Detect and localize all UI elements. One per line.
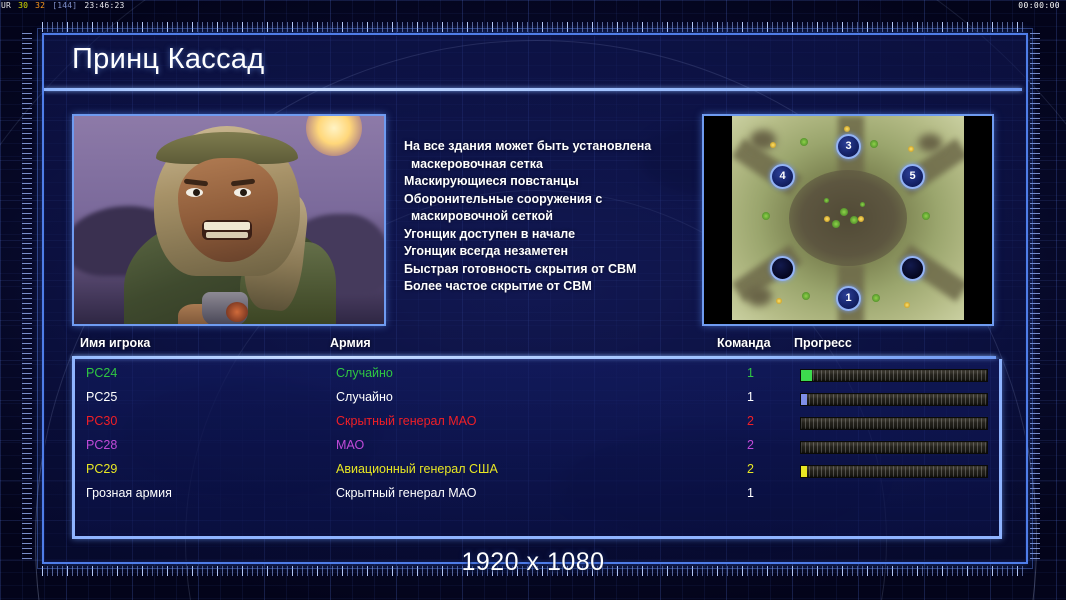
column-header-team: Команда [717, 336, 771, 350]
map-start-position[interactable]: 4 [770, 164, 795, 189]
cell-army: Авиационный генерал США [336, 462, 498, 476]
table-body: PC24Случайно1PC25Случайно1PC30Скрытный г… [72, 359, 1002, 539]
session-timer: 00:00:00 [1018, 0, 1060, 12]
page-title: Принц Кассад [72, 43, 265, 76]
map-resource [802, 292, 810, 300]
column-header-player-name: Имя игрока [80, 336, 150, 350]
game-lobby-screen: UR 30 32 [144] 23:46:23 00:00:00 Принц К… [0, 0, 1066, 600]
cell-army: Случайно [336, 366, 393, 380]
portrait-pupil [193, 189, 200, 196]
ability-line: Оборонительные сооружения с [404, 191, 704, 209]
portrait-brow [184, 179, 208, 187]
map-resource [840, 208, 848, 216]
column-header-progress: Прогресс [794, 336, 852, 350]
ruler-top [42, 22, 1024, 32]
players-table: Имя игрока Армия Команда Прогресс PC24Сл… [72, 336, 996, 536]
ability-line: маскеровочная сетка [404, 156, 704, 174]
portrait-brow [231, 179, 255, 187]
map-start-position[interactable]: 1 [836, 286, 861, 311]
progress-fill [801, 466, 807, 477]
map-supply [824, 216, 830, 222]
ability-line: Маскирующиеся повстанцы [404, 173, 704, 191]
cell-team: 1 [747, 390, 754, 404]
cell-progress-bar [800, 441, 988, 454]
ability-line: Быстрая готовность скрытия от СВМ [404, 261, 704, 279]
cell-team: 2 [747, 414, 754, 428]
map-start-position[interactable]: 3 [836, 134, 861, 159]
cell-progress-bar [800, 465, 988, 478]
resolution-overlay: 1920 x 1080 [0, 548, 1066, 577]
cell-player-name: PC29 [86, 462, 117, 476]
table-row[interactable]: PC28МАО2 [75, 435, 999, 459]
status-clock: 23:46:23 [83, 1, 125, 10]
cell-player-name: Грозная армия [86, 486, 172, 500]
cell-progress-bar [800, 393, 988, 406]
portrait-pupil [240, 189, 247, 196]
cell-team: 1 [747, 366, 754, 380]
map-supply [844, 126, 850, 132]
cell-team: 2 [747, 462, 754, 476]
cell-army: МАО [336, 438, 364, 452]
cell-army: Скрытный генерал МАО [336, 486, 476, 500]
progress-fill [801, 394, 807, 405]
cell-player-name: PC28 [86, 438, 117, 452]
map-supply [908, 146, 914, 152]
status-num-2: 32 [34, 1, 46, 10]
ability-line: Угонщик доступен в начале [404, 226, 704, 244]
map-rock [746, 286, 772, 306]
cell-player-name: PC25 [86, 390, 117, 404]
map-resource [762, 212, 770, 220]
map-resource [870, 140, 878, 148]
cell-player-name: PC24 [86, 366, 117, 380]
status-brackets: [144] [51, 1, 78, 10]
portrait-lamp-glow [226, 302, 248, 322]
column-header-army: Армия [330, 336, 371, 350]
table-row[interactable]: Грозная армияСкрытный генерал МАО1 [75, 483, 999, 507]
top-status-bar: UR 30 32 [144] 23:46:23 00:00:00 [0, 0, 1066, 12]
table-row[interactable]: PC25Случайно1 [75, 387, 999, 411]
table-row[interactable]: PC24Случайно1 [75, 363, 999, 387]
ruler-right [1030, 33, 1040, 560]
map-start-position[interactable]: 5 [900, 164, 925, 189]
general-portrait [72, 114, 386, 326]
cell-army: Случайно [336, 390, 393, 404]
map-resource [872, 294, 880, 302]
media-row: На все здания может быть установлена мас… [72, 114, 994, 322]
table-row[interactable]: PC30Скрытный генерал МАО2 [75, 411, 999, 435]
map-rock [918, 134, 942, 152]
status-prefix: UR [0, 1, 12, 10]
map-resource [832, 220, 840, 228]
map-start-position[interactable] [900, 256, 925, 281]
map-supply [858, 216, 864, 222]
portrait-mouth [202, 220, 252, 240]
ability-line: Более частое скрытие от СВМ [404, 278, 704, 296]
portrait-teeth [204, 222, 250, 230]
ability-line: На все здания может быть установлена [404, 138, 704, 156]
cell-progress-bar [800, 417, 988, 430]
status-num-1: 30 [17, 1, 29, 10]
map-supply [904, 302, 910, 308]
map-resource [850, 216, 858, 224]
title-bar: Принц Кассад [44, 36, 1022, 88]
portrait-teeth [206, 232, 248, 238]
map-supply [776, 298, 782, 304]
map-resource [922, 212, 930, 220]
cell-progress-bar [800, 369, 988, 382]
map-resource [800, 138, 808, 146]
map-center-basin [789, 170, 907, 266]
map-start-position[interactable] [770, 256, 795, 281]
map-preview[interactable]: 3 4 5 1 [702, 114, 994, 326]
map-supply [770, 142, 776, 148]
cell-team: 1 [747, 486, 754, 500]
ruler-left [22, 33, 32, 560]
ability-line: маскировочной сеткой [404, 208, 704, 226]
cell-army: Скрытный генерал МАО [336, 414, 476, 428]
table-header-row: Имя игрока Армия Команда Прогресс [72, 336, 996, 355]
map-resource [860, 202, 865, 207]
general-ability-list: На все здания может быть установлена мас… [404, 138, 704, 296]
cell-player-name: PC30 [86, 414, 117, 428]
ability-line: Угонщик всегда незаметен [404, 243, 704, 261]
progress-fill [801, 370, 812, 381]
cell-team: 2 [747, 438, 754, 452]
map-resource [824, 198, 829, 203]
title-divider [44, 88, 1022, 91]
table-row[interactable]: PC29Авиационный генерал США2 [75, 459, 999, 483]
